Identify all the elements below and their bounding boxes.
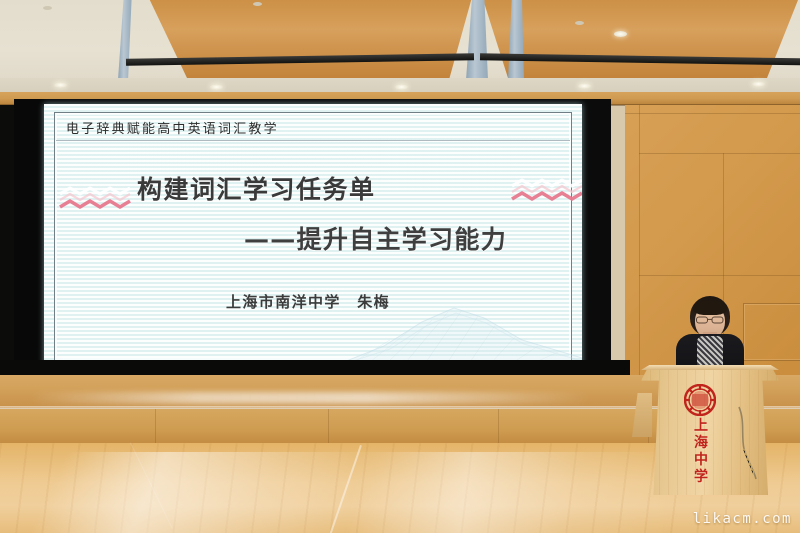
downlight-icon xyxy=(752,81,765,87)
downlight-icon xyxy=(578,83,591,89)
riser-seam xyxy=(328,409,329,445)
slide-main-title: 构建词汇学习任务单 xyxy=(137,170,376,206)
wall-seam xyxy=(639,275,800,276)
screen-mask-left xyxy=(14,99,44,374)
ceiling-fixture-icon xyxy=(43,6,52,10)
podium-char-1: 上 xyxy=(692,418,710,435)
ceiling-fixture-icon xyxy=(253,2,262,6)
glasses-icon xyxy=(696,316,724,324)
ceiling-coffer-right xyxy=(480,0,800,78)
wave-decoration-icon xyxy=(58,184,136,214)
slide-header-text: 电子辞典赋能高中英语词汇教学 xyxy=(66,118,279,137)
podium-cable-icon xyxy=(735,405,761,483)
presentation-slide: 电子辞典赋能高中英语词汇教学 构建词汇学习任务单 ——提升自主学习能力 上海市南… xyxy=(44,104,582,370)
screen-mask-right xyxy=(583,99,611,374)
wall-panel-inset xyxy=(743,303,800,361)
podium-char-3: 中 xyxy=(692,452,710,469)
podium-top-surface xyxy=(641,365,779,370)
watermark: likacm.com xyxy=(693,511,792,527)
podium-char-4: 学 xyxy=(692,469,710,486)
presenter-hair-front xyxy=(693,300,727,315)
shanghai-high-school-emblem-icon xyxy=(684,384,716,416)
downlight-icon xyxy=(614,31,627,37)
wall-seam xyxy=(639,105,640,405)
riser-seam xyxy=(155,409,156,445)
ceiling-fixture-icon xyxy=(575,21,584,25)
slide-header-rule xyxy=(56,140,570,141)
slide-subtitle: ——提升自主学习能力 xyxy=(244,220,507,256)
wall-seam xyxy=(639,153,800,154)
wall-seam xyxy=(625,113,800,114)
podium-char-2: 海 xyxy=(692,435,710,452)
stage-reflection xyxy=(30,392,590,404)
downlight-icon xyxy=(54,82,67,88)
riser-seam xyxy=(498,409,499,445)
slide-author-line: 上海市南洋中学 朱梅 xyxy=(226,291,390,312)
podium-school-label: 上 海 中 学 xyxy=(692,418,710,486)
lecture-hall-photo: 电子辞典赋能高中英语词汇教学 构建词汇学习任务单 ——提升自主学习能力 上海市南… xyxy=(0,0,800,533)
screen-base-shadow xyxy=(0,360,630,376)
downlight-icon xyxy=(395,84,408,90)
wave-decoration-icon xyxy=(510,176,582,206)
downlight-icon xyxy=(210,84,223,90)
